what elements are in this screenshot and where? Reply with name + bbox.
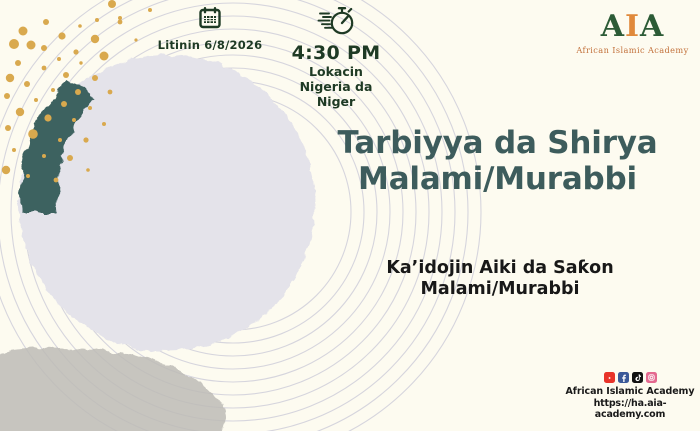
stopwatch-icon (317, 23, 355, 42)
event-date-label: Litinin 6/8/2026 (140, 38, 280, 52)
footer-website-url[interactable]: https://ha.aia-academy.com (560, 398, 700, 420)
facebook-icon[interactable] (618, 372, 629, 383)
social-links (560, 372, 700, 383)
logo-letter-a1: A (601, 9, 625, 44)
logo-name: African Islamic Academy (575, 45, 690, 55)
instagram-icon[interactable] (646, 372, 657, 383)
title-line-1: Tarbiyya da Shirya (300, 126, 695, 162)
event-timezone-line-1: Lokacin (283, 65, 389, 79)
grey-brush-decoration (0, 348, 225, 431)
youtube-icon[interactable] (604, 372, 615, 383)
page-title: Tarbiyya da Shirya Malami/Murabbi (300, 126, 695, 198)
footer-organization: African Islamic Academy (560, 386, 700, 397)
logo-letter-i: I (625, 9, 640, 44)
title-line-2: Malami/Murabbi (300, 162, 695, 198)
aia-logo: AIA African Islamic Academy (575, 12, 690, 55)
calendar-icon (198, 15, 222, 34)
logo-letter-a2: A (640, 9, 664, 44)
event-timezone-line-3: Niger (283, 95, 389, 109)
footer: African Islamic Academy https://ha.aia-a… (560, 372, 700, 420)
subtitle-line-2: Malami/Murabbi (320, 279, 680, 300)
event-poster: Litinin 6/8/2026 4:30 PM Lokacin Nigeria… (0, 0, 700, 431)
event-timezone-line-2: Nigeria da (283, 80, 389, 94)
logo-lettermark: AIA (575, 12, 690, 42)
subtitle-line-1: Ka’idojin Aiki da Saƙon (320, 258, 680, 279)
event-time-value: 4:30 PM (283, 44, 389, 64)
page-subtitle: Ka’idojin Aiki da Saƙon Malami/Murabbi (320, 258, 680, 301)
tiktok-icon[interactable] (632, 372, 643, 383)
event-time-block: 4:30 PM Lokacin Nigeria da Niger (283, 4, 389, 109)
event-date-block: Litinin 6/8/2026 (140, 6, 280, 52)
